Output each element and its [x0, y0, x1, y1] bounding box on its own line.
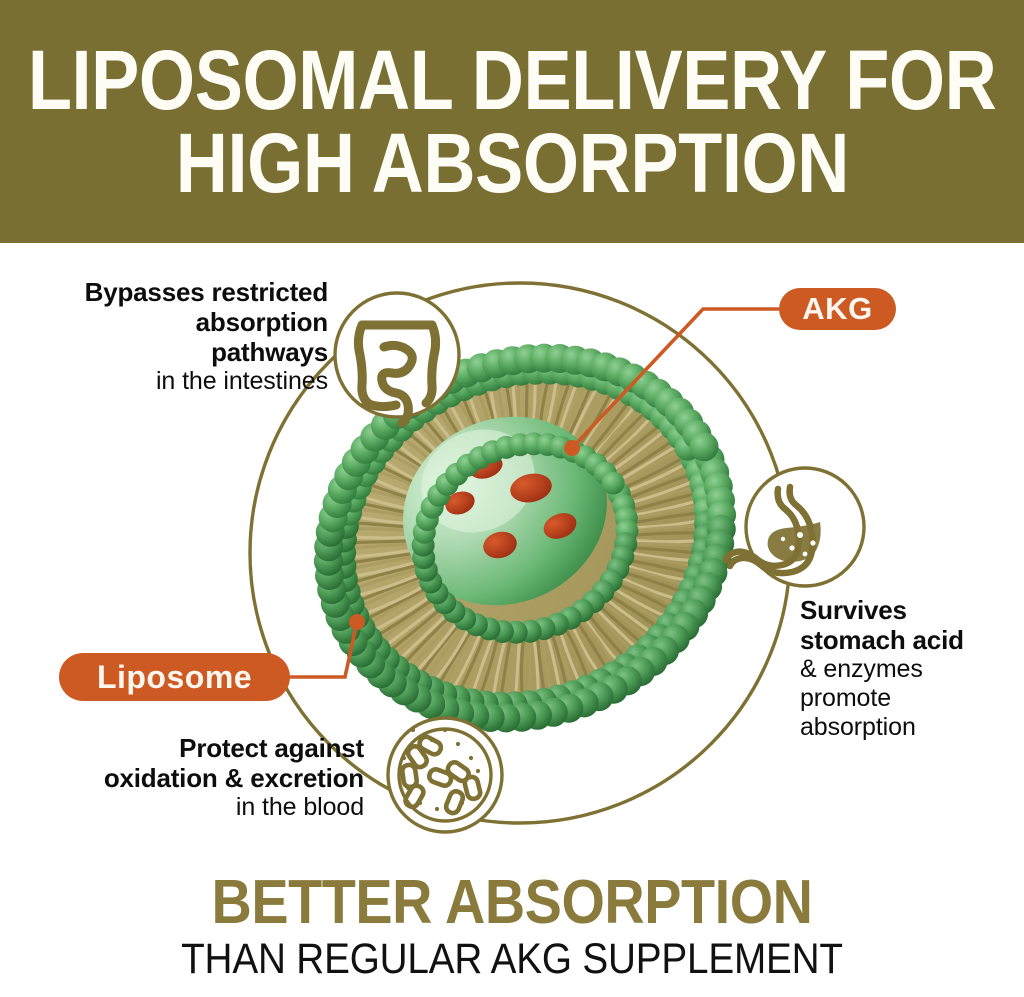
- callout-intestines: Bypasses restricted absorption pathways …: [6, 277, 328, 396]
- callout-blood-bold-1: Protect against: [24, 733, 364, 763]
- footer-headline: BETTER ABSORPTION: [51, 872, 973, 934]
- stomach-icon-badge: [726, 468, 864, 586]
- akg-label-pill[interactable]: AKG: [779, 288, 896, 330]
- blood-icon-badge: [388, 718, 502, 832]
- callout-blood: Protect against oxidation & excretion in…: [24, 733, 364, 822]
- callout-blood-bold-2: oxidation & excretion: [24, 763, 364, 793]
- callout-stomach-bold-2: stomach acid: [800, 625, 1015, 655]
- callout-stomach-regular-2: promote: [800, 684, 1015, 713]
- footer-block: BETTER ABSORPTION THAN REGULAR AKG SUPPL…: [0, 872, 1024, 981]
- callout-stomach-regular-3: absorption: [800, 713, 1015, 742]
- callout-intestines-bold-2: absorption: [6, 307, 328, 337]
- header-title-line-1: LIPOSOMAL DELIVERY FOR: [28, 41, 997, 120]
- callout-stomach-bold-1: Survives: [800, 595, 1015, 625]
- callout-intestines-bold-3: pathways: [6, 337, 328, 367]
- diagram-area: Bypasses restricted absorption pathways …: [0, 243, 1024, 868]
- callout-intestines-bold-1: Bypasses restricted: [6, 277, 328, 307]
- header-banner: LIPOSOMAL DELIVERY FOR HIGH ABSORPTION: [0, 0, 1024, 243]
- footer-subline: THAN REGULAR AKG SUPPLEMENT: [51, 938, 973, 981]
- liposome-leader-dot: [349, 614, 365, 630]
- liposome-label-pill[interactable]: Liposome: [59, 653, 290, 701]
- infographic-canvas: LIPOSOMAL DELIVERY FOR HIGH ABSORPTION: [0, 0, 1024, 997]
- intestines-icon-circle: [335, 293, 459, 417]
- callout-blood-regular: in the blood: [24, 793, 364, 822]
- akg-leader-dot: [564, 440, 580, 456]
- callout-intestines-regular: in the intestines: [6, 367, 328, 396]
- callout-stomach: Survives stomach acid & enzymes promote …: [800, 595, 1015, 742]
- header-title-line-2: HIGH ABSORPTION: [175, 124, 848, 203]
- callout-stomach-regular-1: & enzymes: [800, 655, 1015, 684]
